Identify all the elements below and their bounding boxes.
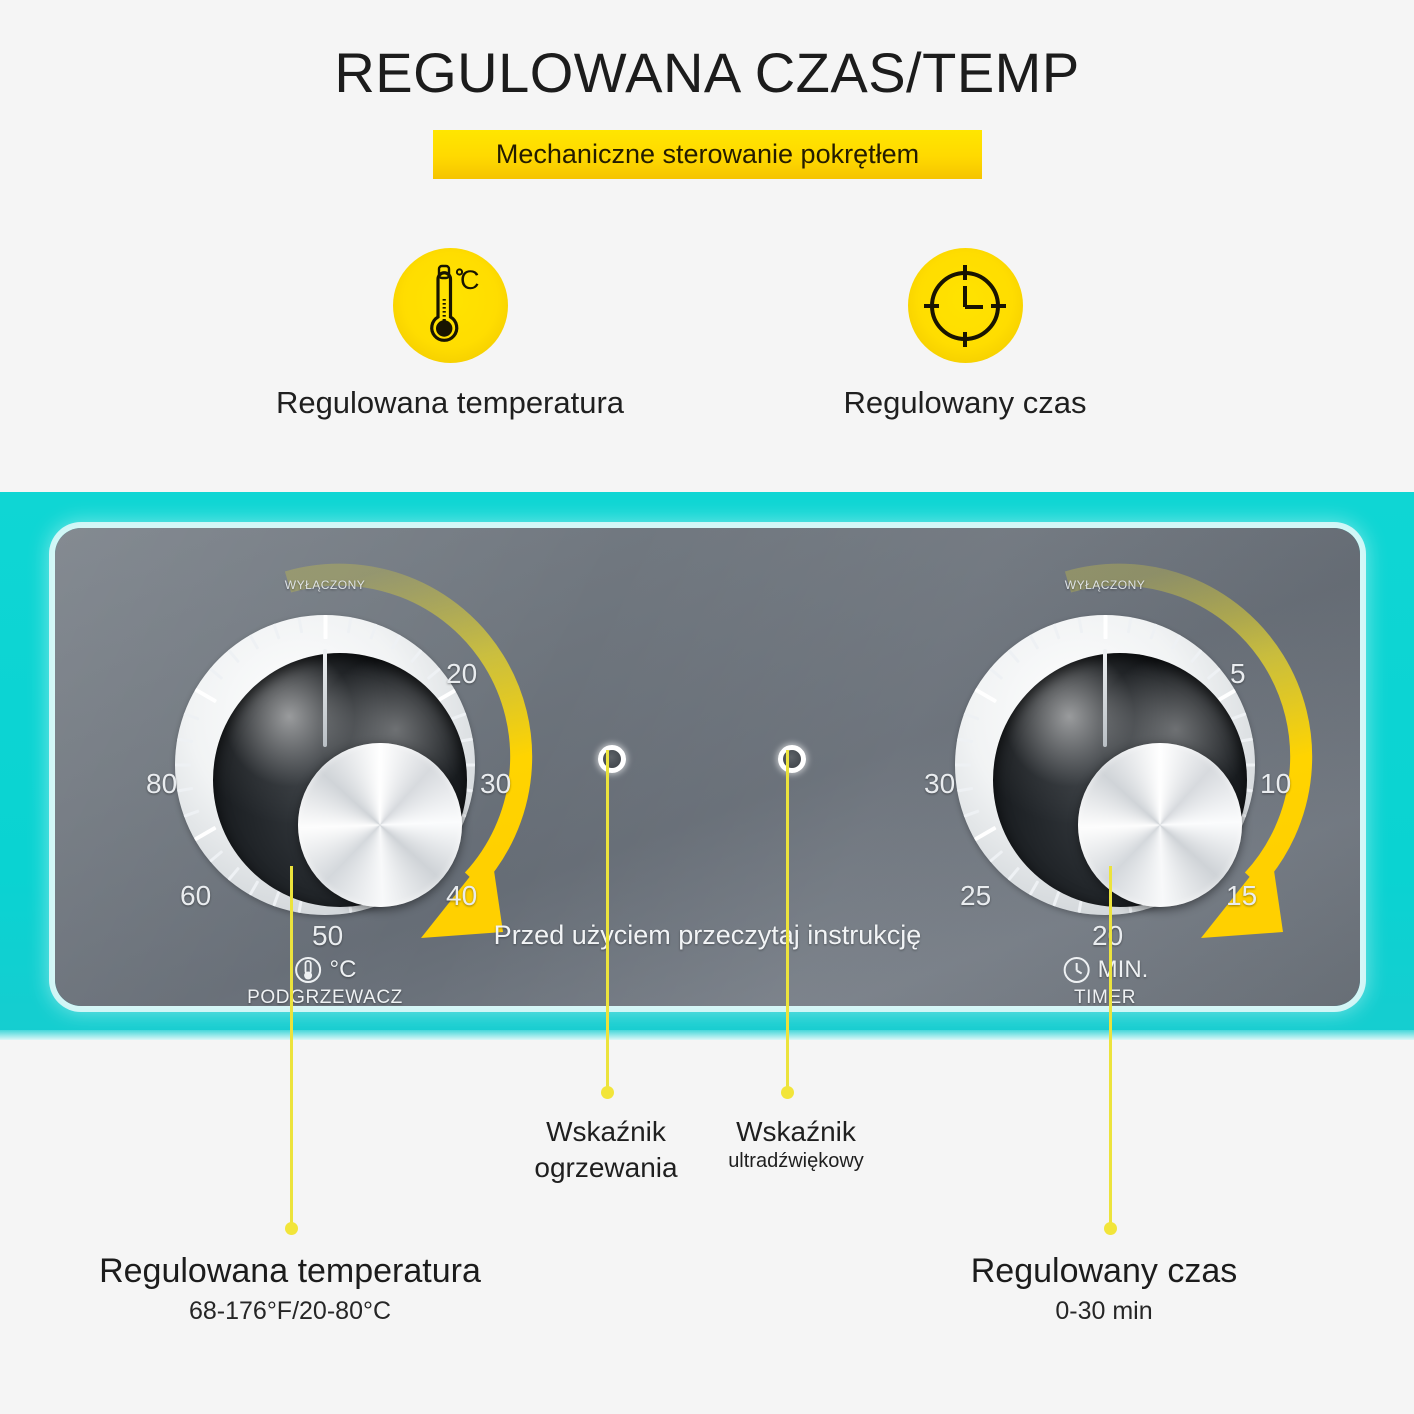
timer-knob-cap[interactable] xyxy=(1078,743,1242,907)
callout-line-time xyxy=(1109,866,1112,1228)
temperature-knob-collar xyxy=(213,653,467,907)
callout-temperature-range: Regulowana temperatura 68-176°F/20-80°C xyxy=(40,1252,540,1326)
timer-unit: MIN. xyxy=(1098,956,1149,984)
callout-temperature-sub: 68-176°F/20-80°C xyxy=(40,1297,540,1326)
temperature-knob-off-label: WYŁĄCZONY xyxy=(285,578,366,592)
temperature-unit: °C xyxy=(330,956,357,984)
temperature-dial-40: 40 xyxy=(446,880,477,912)
callout-time-sub: 0-30 min xyxy=(909,1297,1299,1326)
heating-led xyxy=(598,745,626,773)
clock-icon xyxy=(919,260,1011,352)
ultrasonic-led xyxy=(778,745,806,773)
temperature-knob-bezel xyxy=(175,615,475,915)
timer-clock-icon xyxy=(1062,955,1092,985)
callout-line-ultrasonic xyxy=(786,750,789,1092)
subtitle-banner: Mechaniczne sterowanie pokrętłem xyxy=(433,130,982,179)
feature-time-label: Regulowany czas xyxy=(785,385,1145,421)
timer-dial-10: 10 xyxy=(1260,768,1291,800)
callout-line-heating xyxy=(606,750,609,1092)
temperature-foot-label: PODGRZEWACZ xyxy=(247,987,403,1006)
feature-temperature-label: Regulowana temperatura xyxy=(270,385,630,421)
timer-foot-label: TIMER xyxy=(1062,987,1149,1006)
temperature-knob-footer: °C PODGRZEWACZ xyxy=(247,955,403,1006)
temperature-dial-20: 20 xyxy=(446,658,477,690)
callout-dot-temperature xyxy=(285,1222,298,1235)
timer-knob-bezel xyxy=(955,615,1255,915)
callout-time-range: Regulowany czas 0-30 min xyxy=(909,1252,1299,1326)
timer-knob-footer: MIN. TIMER xyxy=(1062,955,1149,1006)
timer-knob-off-label: WYŁĄCZONY xyxy=(1065,578,1146,592)
callout-dot-heating xyxy=(601,1086,614,1099)
timer-knob[interactable]: WYŁĄCZONY 5 10 15 20 25 30 MIN. TIMER xyxy=(940,600,1270,930)
feature-time: Regulowany czas xyxy=(785,248,1145,421)
temperature-dial-80: 80 xyxy=(146,768,177,800)
temperature-knob[interactable]: WYŁĄCZONY 20 30 40 50 60 80 °C PODGRZEWA… xyxy=(160,600,490,930)
callout-dot-time xyxy=(1104,1222,1117,1235)
header-section: REGULOWANA CZAS/TEMP Mechaniczne sterowa… xyxy=(0,0,1414,492)
timer-dial-20: 20 xyxy=(1092,920,1123,952)
thermometer-icon: C xyxy=(411,263,489,349)
svg-text:C: C xyxy=(460,265,480,295)
timer-dial-30: 30 xyxy=(924,768,955,800)
callout-dot-ultrasonic xyxy=(781,1086,794,1099)
subtitle-text: Mechaniczne sterowanie pokrętłem xyxy=(496,139,919,170)
callout-temperature-title: Regulowana temperatura xyxy=(40,1252,540,1291)
feature-temperature: C Regulowana temperatura xyxy=(270,248,630,421)
timer-dial-25: 25 xyxy=(960,880,991,912)
callout-ultrasonic-line1: Wskaźnik xyxy=(676,1114,916,1150)
timer-knob-collar xyxy=(993,653,1247,907)
temperature-dial-60: 60 xyxy=(180,880,211,912)
heater-thermometer-icon xyxy=(294,955,324,985)
temperature-dial-30: 30 xyxy=(480,768,511,800)
control-panel: WYŁĄCZONY 20 30 40 50 60 80 °C PODGRZEWA… xyxy=(55,528,1360,1006)
callout-ultrasonic-line2: ultradźwiękowy xyxy=(676,1150,916,1173)
timer-knob-pointer xyxy=(1103,649,1107,747)
callout-time-title: Regulowany czas xyxy=(909,1252,1299,1291)
page-title: REGULOWANA CZAS/TEMP xyxy=(0,40,1414,105)
panel-instruction-note: Przed użyciem przeczytaj instrukcję xyxy=(494,920,922,951)
temperature-knob-cap[interactable] xyxy=(298,743,462,907)
callout-line-temperature xyxy=(290,866,293,1228)
temperature-knob-pointer xyxy=(323,649,327,747)
callout-ultrasonic-indicator: Wskaźnik ultradźwiękowy xyxy=(676,1114,916,1173)
timer-dial-5: 5 xyxy=(1230,658,1246,690)
timer-dial-15: 15 xyxy=(1226,880,1257,912)
temperature-dial-50: 50 xyxy=(312,920,343,952)
temperature-icon-badge: C xyxy=(393,248,508,363)
time-icon-badge xyxy=(908,248,1023,363)
